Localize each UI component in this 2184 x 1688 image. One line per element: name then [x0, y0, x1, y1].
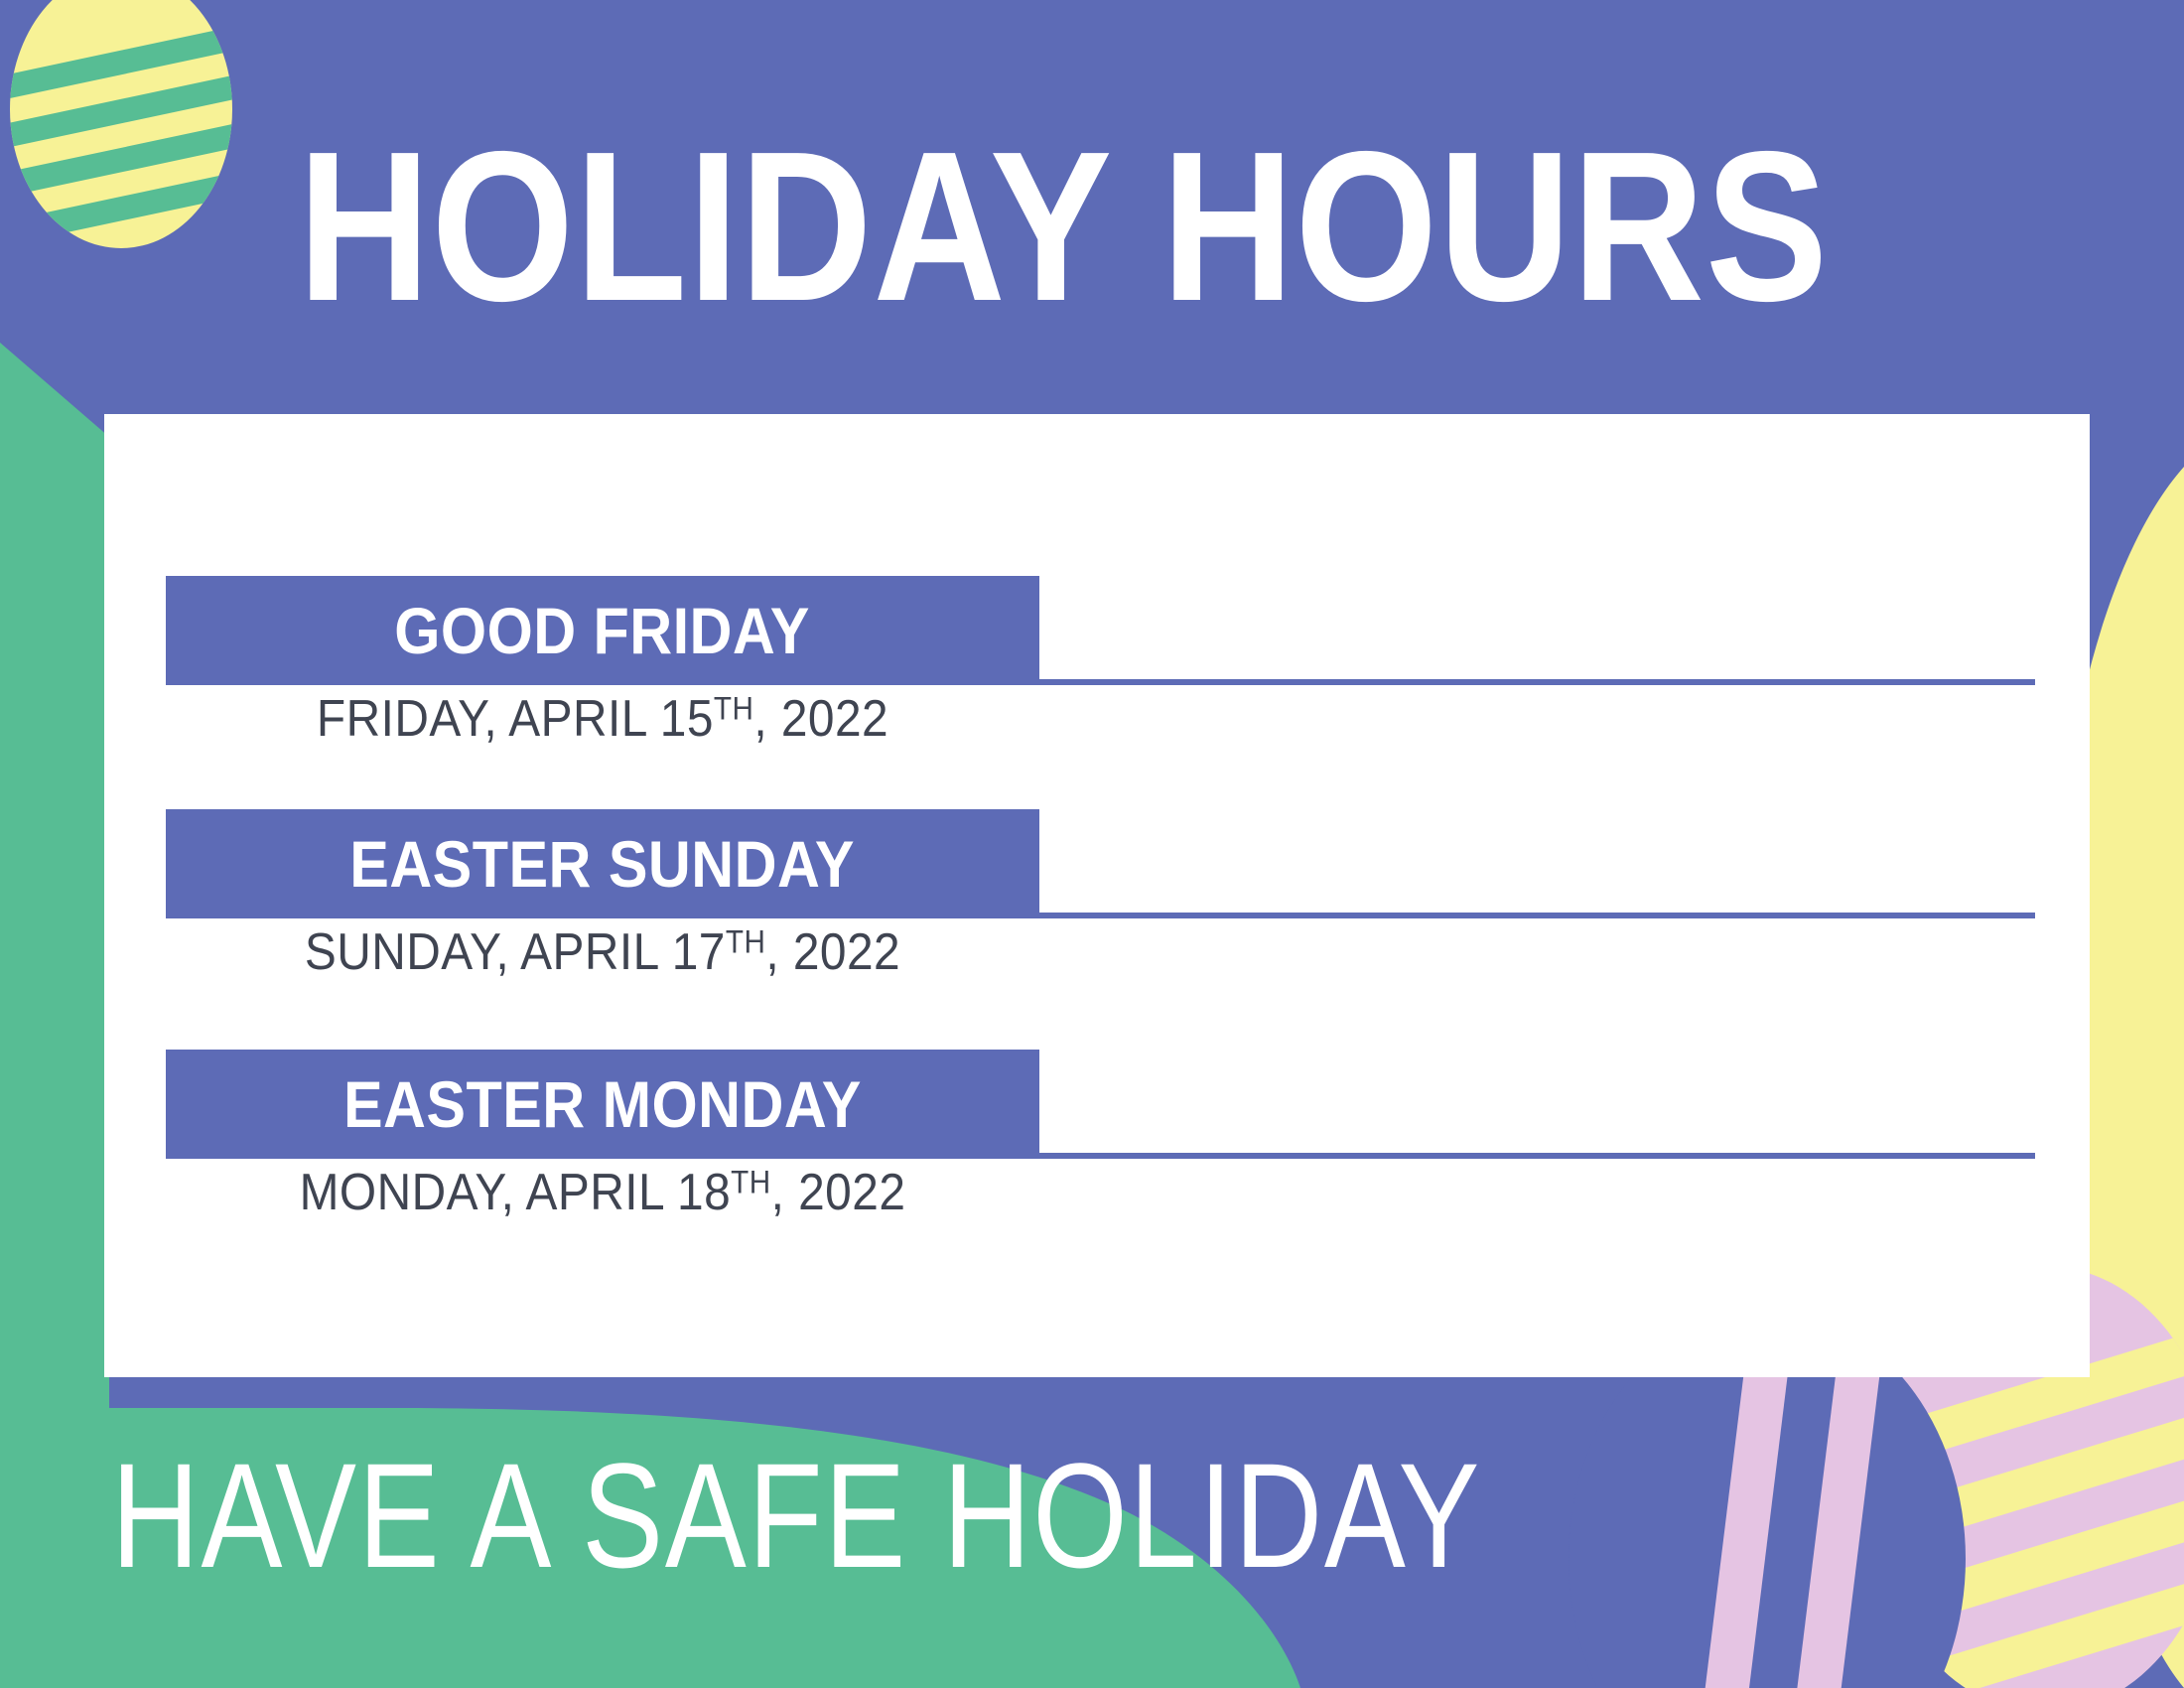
holiday-date-suffix: , 2022 [765, 923, 900, 981]
holiday-name-band: GOOD FRIDAY [166, 576, 1039, 685]
holiday-row: GOOD FRIDAY FRIDAY, APRIL 15TH, 2022 [104, 576, 2090, 804]
holiday-row: EASTER SUNDAY SUNDAY, APRIL 17TH, 2022 [104, 809, 2090, 1038]
holiday-date: FRIDAY, APRIL 15TH, 2022 [201, 689, 1005, 749]
page-title: HOLIDAY HOURS [298, 119, 1749, 333]
holiday-row: EASTER MONDAY MONDAY, APRIL 18TH, 2022 [104, 1050, 2090, 1278]
hours-rule-line [1039, 1153, 2035, 1159]
holiday-name: EASTER MONDAY [343, 1066, 862, 1142]
hours-rule-line [1039, 913, 2035, 918]
holiday-name: EASTER SUNDAY [350, 826, 856, 902]
holiday-date-prefix: MONDAY, APRIL 18 [300, 1164, 732, 1221]
holiday-date-prefix: SUNDAY, APRIL 17 [305, 923, 726, 981]
holiday-name-band: EASTER MONDAY [166, 1050, 1039, 1159]
holiday-hours-poster: HOLIDAY HOURS GOOD FRIDAY FRIDAY, APRIL … [0, 0, 2184, 1688]
holiday-name: GOOD FRIDAY [395, 593, 811, 668]
hours-rule-line [1039, 679, 2035, 685]
striped-easter-egg-yellow-green [0, 0, 337, 253]
holiday-date-ordinal: TH [731, 1164, 770, 1199]
holiday-list-card: GOOD FRIDAY FRIDAY, APRIL 15TH, 2022 EAS… [104, 414, 2090, 1377]
holiday-date: SUNDAY, APRIL 17TH, 2022 [201, 922, 1005, 982]
holiday-date-ordinal: TH [714, 690, 753, 726]
holiday-date-prefix: FRIDAY, APRIL 15 [317, 690, 714, 748]
holiday-name-band: EASTER SUNDAY [166, 809, 1039, 918]
green-diagonal-shape [0, 343, 109, 1688]
holiday-date-suffix: , 2022 [771, 1164, 906, 1221]
holiday-date-suffix: , 2022 [753, 690, 888, 748]
closing-message: HAVE A SAFE HOLIDAY [111, 1430, 1481, 1602]
holiday-date: MONDAY, APRIL 18TH, 2022 [201, 1163, 1005, 1222]
holiday-date-ordinal: TH [726, 923, 765, 959]
